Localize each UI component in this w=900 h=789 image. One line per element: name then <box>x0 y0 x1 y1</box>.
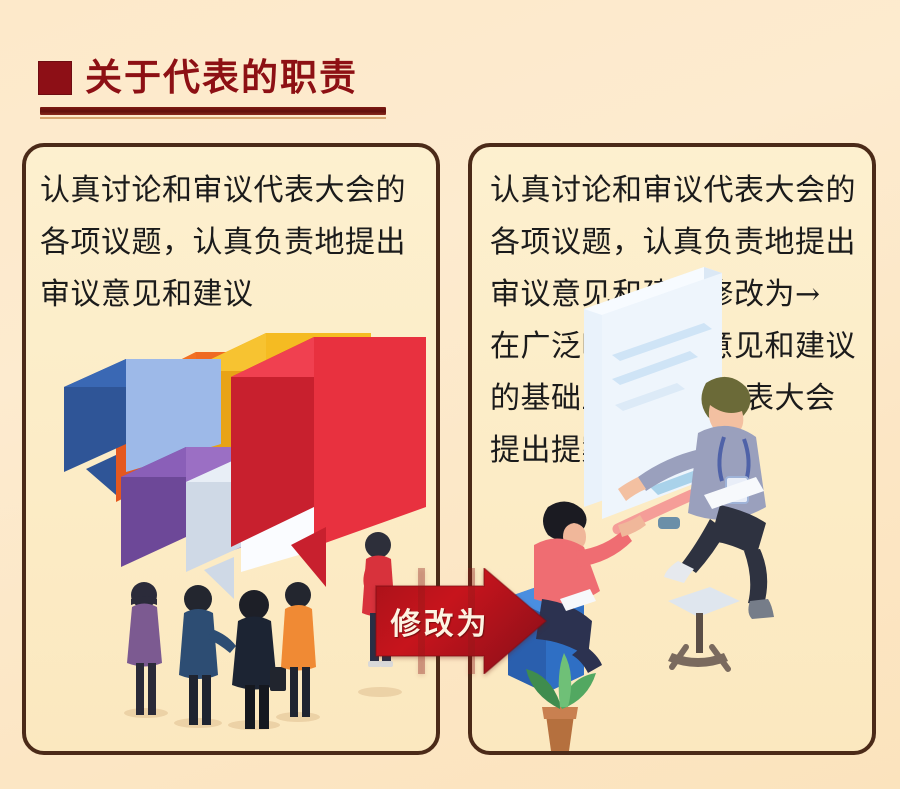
speech-bubble-blue <box>64 359 221 495</box>
original-duty-text: 认真讨论和审议代表大会的各项议题，认真负责地提出审议意见和建议 <box>40 165 426 321</box>
speech-bubble-yellow <box>186 333 371 477</box>
speech-bubble-red <box>231 337 426 587</box>
arrow-label: 修改为 <box>380 598 500 644</box>
red-square-bullet-icon <box>38 61 72 95</box>
page-header: 关于代表的职责 <box>38 55 398 130</box>
title-underline-secondary <box>40 117 386 119</box>
speech-bubble-white <box>186 457 326 599</box>
modified-to-arrow: 修改为 <box>372 568 548 674</box>
title-row: 关于代表的职责 <box>38 55 398 101</box>
speech-bubble-orange <box>116 352 316 529</box>
poster-canvas: 关于代表的职责 认真讨论和审议代表大会的各项议题，认真负责地提出审议意见和建议 <box>0 0 900 789</box>
title-underline <box>40 107 386 115</box>
revised-duty-text: 认真讨论和审议代表大会的各项议题，认真负责地提出审议意见和建议修改为→ 在广泛听… <box>490 165 862 477</box>
crowd-figures <box>127 532 395 729</box>
speech-bubble-purple <box>121 447 271 567</box>
page-title: 关于代表的职责 <box>85 58 358 98</box>
